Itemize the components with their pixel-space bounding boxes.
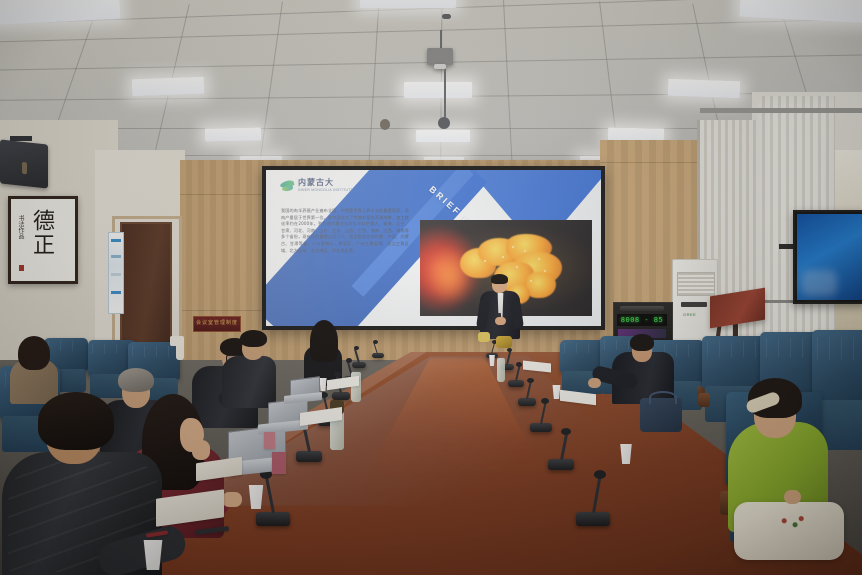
name-card xyxy=(264,432,275,449)
presenter-hair xyxy=(491,274,508,284)
gooseneck-microphone[interactable] xyxy=(530,398,552,432)
ceiling-light-panel xyxy=(360,0,456,8)
attendee-green-sweater xyxy=(718,370,838,540)
projector-mount-stem xyxy=(440,30,442,48)
rack-led-text: 8008 - 85 xyxy=(617,314,667,326)
gooseneck-microphone[interactable] xyxy=(372,340,384,358)
attendee-hand xyxy=(784,490,801,504)
logo-company-name-cn: 内蒙古大 xyxy=(298,179,353,187)
table-flower-arrangement xyxy=(496,336,512,348)
speaker-mount-bracket xyxy=(10,136,32,141)
logo-company-name-en: INNER MONGOLIA INSTITUTE xyxy=(298,189,353,192)
ceiling-speaker xyxy=(438,117,450,129)
ceiling-light-panel xyxy=(205,128,261,142)
tissue-box xyxy=(170,336,184,346)
name-card xyxy=(272,452,286,474)
window-head-rail xyxy=(700,108,862,113)
projector-drop-rod xyxy=(444,69,446,117)
framed-calligraphy-artwork: 书法作品 德正 xyxy=(8,196,78,284)
table-flower-arrangement xyxy=(478,332,490,342)
calligraphy-inscription: 书法作品 xyxy=(17,215,24,239)
wall-mounted-display[interactable] xyxy=(793,210,862,304)
ceiling-light-panel xyxy=(132,77,205,97)
ac-control-panel[interactable] xyxy=(681,302,707,307)
ac-vent-grille xyxy=(677,272,715,296)
attendee-hair xyxy=(18,336,50,370)
ceiling-light-panel xyxy=(404,82,472,98)
conference-room-photo: 书法作品 德正 会议室管理制度 BRIEF INTRODUCTION xyxy=(0,0,862,575)
wall-notice-poster xyxy=(108,232,124,314)
rack-led-display: 8008 - 85 xyxy=(617,314,667,326)
attendee-hair xyxy=(630,334,654,351)
calligraphy-seal xyxy=(19,265,24,271)
presenter-arm-right xyxy=(510,298,524,329)
presenter-arm-left xyxy=(476,298,490,329)
presentation-slide: BRIEF INTRODUCTION 内蒙古大 INNER MONGOLIA I… xyxy=(266,170,601,326)
green-swoosh-logo-icon xyxy=(280,178,295,193)
projection-screen: BRIEF INTRODUCTION 内蒙古大 INNER MONGOLIA I… xyxy=(262,166,605,330)
tv-glare xyxy=(801,270,837,296)
calligraphy-characters: 德正 xyxy=(29,209,53,257)
ceiling-speaker xyxy=(442,14,451,19)
slide-logo: 内蒙古大 INNER MONGOLIA INSTITUTE xyxy=(280,178,353,193)
plaque-text: 会议室管理制度 xyxy=(194,317,240,330)
slide-body-text: 我国的肉羊养殖产业遍布全国，中国是世界上养羊业的重要国家，羊肉产量居于世界第一位… xyxy=(281,208,409,254)
attendee-hand xyxy=(588,378,601,388)
ceiling-light-panel xyxy=(416,130,470,142)
water-bottle[interactable] xyxy=(497,358,505,382)
attendee-hand xyxy=(192,440,210,460)
ac-brand-mark: GREE xyxy=(683,312,696,317)
ceiling-projector xyxy=(427,48,453,65)
rack-handle xyxy=(620,306,664,311)
presenter xyxy=(478,276,522,338)
attendee-long-hair xyxy=(310,320,338,362)
attendee-hair xyxy=(240,330,267,347)
gooseneck-microphone[interactable] xyxy=(576,470,610,526)
attendee-torso xyxy=(222,356,276,408)
gooseneck-microphone[interactable] xyxy=(548,428,574,470)
floral-pattern xyxy=(774,512,808,534)
ceiling-light-panel xyxy=(668,79,741,99)
attendee-hand xyxy=(222,492,242,507)
attendee-dark-jacket xyxy=(222,330,280,408)
navy-handbag xyxy=(640,398,682,432)
ceiling-speaker xyxy=(380,119,390,130)
attendee-hair xyxy=(38,392,114,450)
wall-speaker-left xyxy=(0,139,48,188)
presenter-hands xyxy=(495,317,506,325)
slide-body-text-block: 我国的肉羊养殖产业遍布全国，中国是世界上养羊业的重要国家，羊肉产量居于世界第一位… xyxy=(281,208,409,254)
